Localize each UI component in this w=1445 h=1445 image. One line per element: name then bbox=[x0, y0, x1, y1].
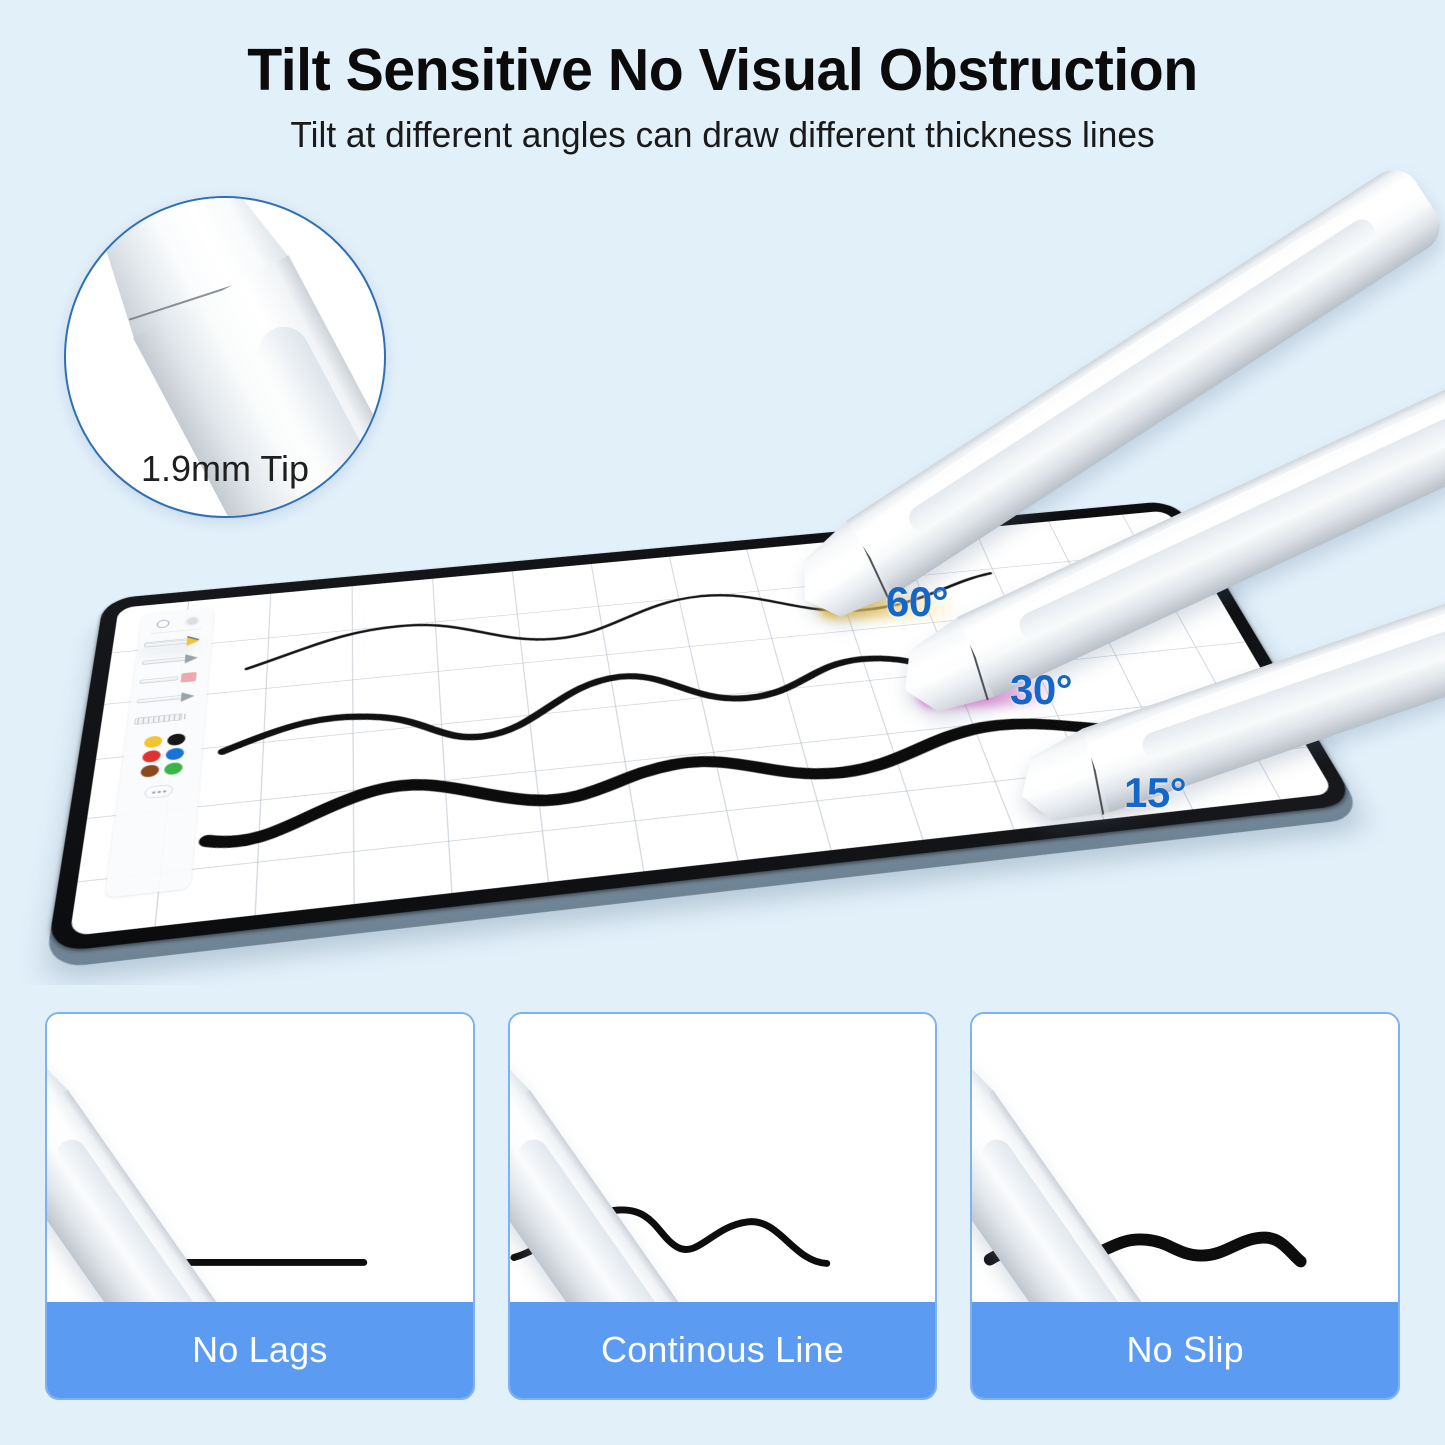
pencil-tool[interactable] bbox=[141, 613, 208, 674]
tip-zoom-callout: 1.9mm Tip bbox=[64, 196, 386, 518]
card-label: Continous Line bbox=[510, 1302, 936, 1398]
product-feature-image: Tilt Sensitive No Visual Obstruction Til… bbox=[0, 0, 1445, 1445]
feature-cards: No Lags Continous Line bbox=[45, 1012, 1400, 1400]
tip-size-label: 1.9mm Tip bbox=[66, 448, 384, 490]
pencil-nib-icon bbox=[186, 636, 200, 646]
front-camera-icon bbox=[84, 753, 95, 761]
card-illustration bbox=[510, 1014, 936, 1302]
feature-card-no-slip: No Slip bbox=[970, 1012, 1400, 1400]
angle-label-30: 30° bbox=[1010, 666, 1072, 714]
angle-label-15: 15° bbox=[1124, 769, 1186, 817]
card-label: No Lags bbox=[47, 1302, 473, 1398]
feature-card-no-lags: No Lags bbox=[45, 1012, 475, 1400]
hero-scene: 60° 30° 15° bbox=[0, 0, 1445, 985]
card-illustration bbox=[972, 1014, 1398, 1302]
feature-card-continous-line: Continous Line bbox=[508, 1012, 938, 1400]
card-illustration bbox=[47, 1014, 473, 1302]
tablet-device bbox=[95, 455, 1285, 935]
pencil-shaft-icon bbox=[144, 639, 190, 647]
angle-label-60: 60° bbox=[886, 578, 948, 626]
card-label: No Slip bbox=[972, 1302, 1398, 1398]
